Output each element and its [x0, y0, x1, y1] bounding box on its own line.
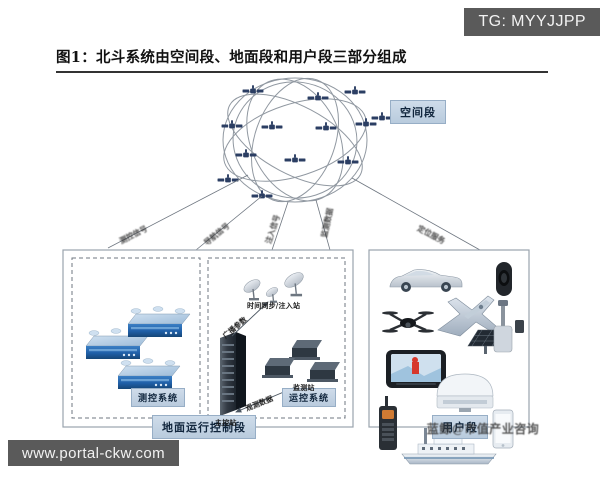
- page-title: 图1：北斗系统由空间段、地面段和用户段三部分组成: [56, 46, 548, 71]
- gnss-antenna-icon: [437, 374, 493, 412]
- watermark-badge-top: TG: MYYJJPP: [464, 8, 600, 36]
- user-segment-label: 用户段: [432, 415, 488, 439]
- ttc-system-label: 测控系统: [131, 388, 185, 407]
- injection-station-caption: 时间同步/注入站: [247, 301, 300, 311]
- watermark-badge-bottom: www.portal-ckw.com: [8, 440, 179, 466]
- signal-rays: [108, 175, 480, 250]
- diagram-canvas: 空间段 测控系统 运控系统 地面运行控制段 用户段 时间同步/注入站 主控站 监…: [0, 70, 600, 450]
- master-station-caption: 主控站: [215, 418, 237, 428]
- monitor-station-caption: 监测站: [293, 383, 315, 393]
- figure-page: TG: MYYJJPP 图1：北斗系统由空间段、地面段和用户段三部分组成: [0, 0, 600, 480]
- orbit-rings: [213, 63, 376, 216]
- smartphone-icon: [493, 410, 513, 448]
- smartwatch-icon: [496, 262, 512, 296]
- figure-title-block: 图1：北斗系统由空间段、地面段和用户段三部分组成: [56, 46, 548, 73]
- space-segment-label: 空间段: [390, 100, 446, 124]
- navigation-display-icon: [386, 350, 446, 388]
- ground-segment-label: 地面运行控制段: [152, 415, 256, 439]
- master-control-tower: [220, 332, 246, 416]
